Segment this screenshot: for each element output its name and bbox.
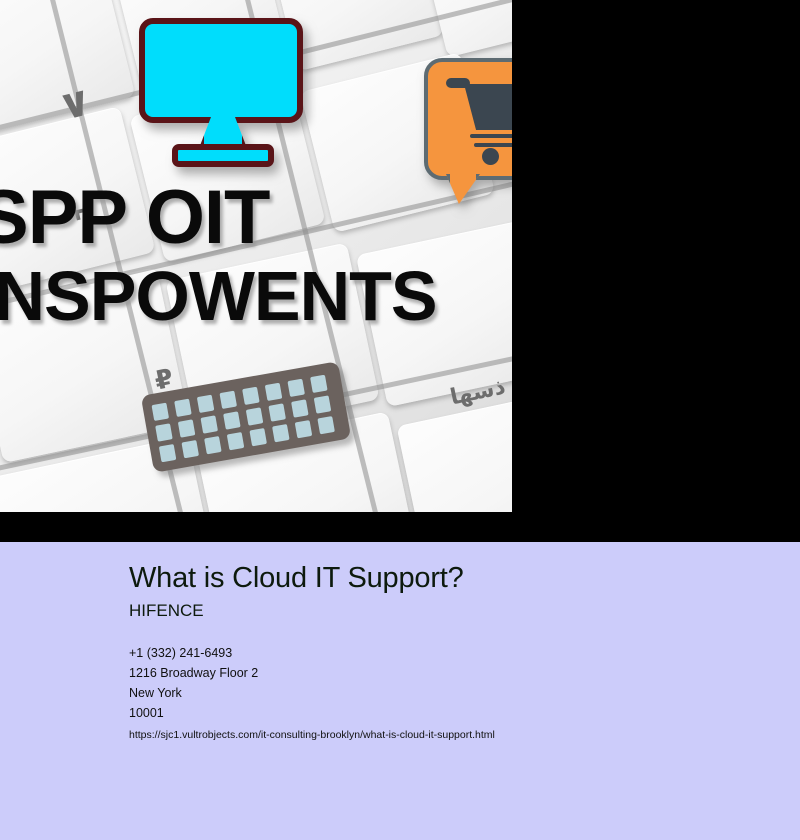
source-url: https://sjc1.vultrobjects.com/it-consult… <box>129 728 769 743</box>
monitor-base <box>172 144 274 167</box>
page-root: ∨ ⌜ ⎮⎮⎮ ₽ ذسها ئڈ <box>0 0 800 840</box>
media-band: ∨ ⌜ ⎮⎮⎮ ₽ ذسها ئڈ <box>0 0 800 542</box>
contact-phone: +1 (332) 241-6493 <box>129 643 769 663</box>
hero-illustration: ∨ ⌜ ⎮⎮⎮ ₽ ذسها ئڈ <box>0 0 512 512</box>
contact-street: 1216 Broadway Floor 2 <box>129 663 769 683</box>
cart-icon <box>446 76 512 164</box>
monitor-icon <box>139 18 311 163</box>
brand-name: HIFENCE <box>129 600 769 622</box>
contact-zip: 10001 <box>129 703 769 723</box>
info-panel: What is Cloud IT Support? HIFENCE +1 (33… <box>129 560 769 743</box>
hero-overlay-text-line2: INSPOWENTS <box>0 258 512 334</box>
contact-city: New York <box>129 683 769 703</box>
cart-wheel-left <box>482 148 499 165</box>
hero-overlay-text-line1: SPP OIT <box>0 178 512 258</box>
cart-basket <box>464 84 512 130</box>
page-title: What is Cloud IT Support? <box>129 560 769 596</box>
cart-bar-lower <box>474 143 512 147</box>
contact-block: +1 (332) 241-6493 1216 Broadway Floor 2 … <box>129 643 769 723</box>
monitor-screen <box>139 18 303 123</box>
cart-bar-upper <box>470 134 512 138</box>
